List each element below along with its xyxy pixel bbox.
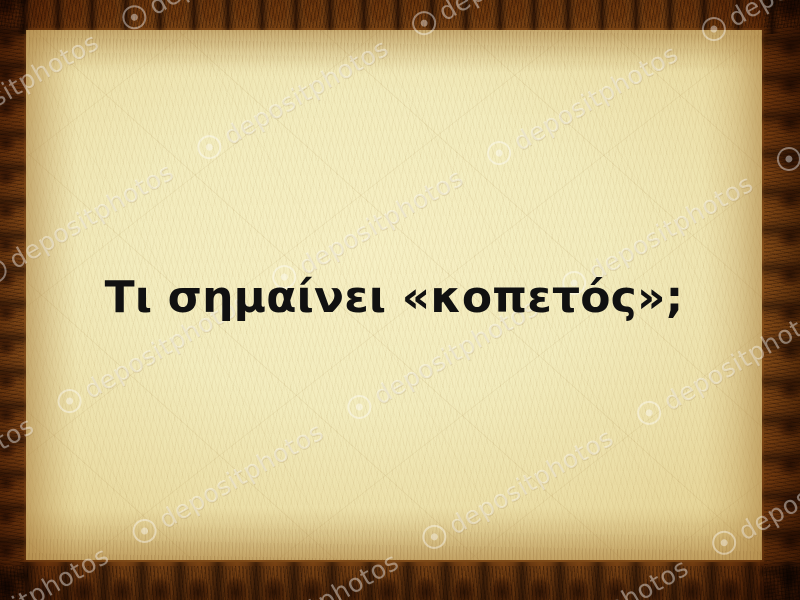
frame-bottom-rope xyxy=(0,562,800,600)
frame-right-rope xyxy=(760,0,800,600)
frame-left-fibers xyxy=(0,0,24,600)
presentation-slide: depositphotosdepositphotosdepositphotosd… xyxy=(0,0,800,600)
page-title: Τι σημαίνει «κοπετός»; xyxy=(105,274,684,326)
frame-top-fibers xyxy=(0,0,800,28)
frame-top-rope xyxy=(0,0,800,34)
frame-left-rope xyxy=(0,0,28,600)
frame-right-fibers xyxy=(764,0,800,600)
frame-bottom-fibers xyxy=(0,566,800,600)
